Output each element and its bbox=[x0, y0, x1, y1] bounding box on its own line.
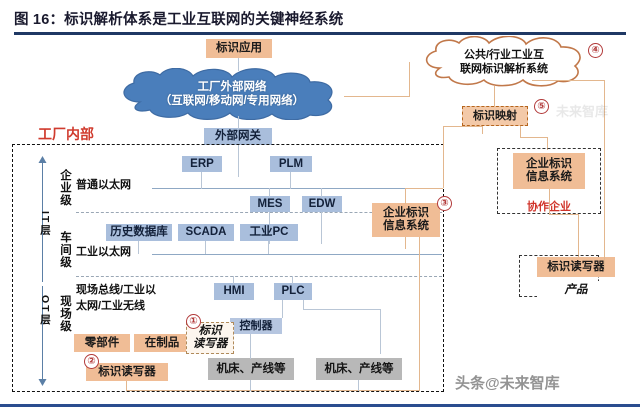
callout-2: ② bbox=[84, 354, 99, 369]
connector-industrial-pc-to-bus bbox=[268, 241, 269, 254]
node-industrial-pc[interactable]: 工业PC bbox=[240, 224, 298, 241]
figure-canvas: 图 16：标识解析体系是工业互联网的关键神经系统 工厂外部网络 （互联网/移动网… bbox=[0, 0, 640, 417]
enterprise-identifier-line2: 信息系统 bbox=[383, 220, 429, 233]
bus-label-fieldbus-line2: 太网/工业无线 bbox=[76, 300, 145, 313]
node-enterprise-identifier-info-system[interactable]: 企业标识 信息系统 bbox=[372, 203, 440, 237]
factory-interior-label: 工厂内部 bbox=[38, 124, 94, 144]
reader-writer-1-line1: 标识 bbox=[199, 325, 222, 338]
connector-bottom-bus bbox=[126, 390, 420, 391]
node-identifier-application[interactable]: 标识应用 bbox=[206, 39, 272, 58]
connector-erp-to-bus bbox=[201, 172, 202, 189]
connector-external-network-to-public-cloud-v bbox=[409, 62, 410, 97]
level-label-enterprise: 企业级 bbox=[56, 162, 71, 214]
connector-enterprise-system-down bbox=[405, 237, 406, 249]
node-hmi[interactable]: HMI bbox=[214, 283, 254, 300]
cloud-public-industry-identifier-system: 公共/行业工业互 联网标识解析系统 bbox=[418, 36, 590, 90]
connector-identifier-application-to-cloud bbox=[238, 58, 239, 71]
connector-plm-to-bus bbox=[290, 172, 291, 189]
connector-controller-to-machine-a bbox=[250, 334, 251, 359]
node-wip[interactable]: 在制品 bbox=[134, 334, 190, 352]
node-identifier-mapping[interactable]: 标识映射 bbox=[462, 106, 528, 126]
callout-4: ④ bbox=[588, 43, 603, 58]
figure-title-bar: 图 16：标识解析体系是工业互联网的关键神经系统 bbox=[14, 8, 626, 32]
level-label-field: 现场级 bbox=[56, 288, 71, 340]
collab-system-line2: 信息系统 bbox=[526, 171, 572, 184]
node-parts[interactable]: 零部件 bbox=[74, 334, 130, 352]
connector-it-bus-to-enterprise-system bbox=[405, 188, 443, 189]
bus-line-industrial-ethernet bbox=[152, 254, 442, 255]
level-divider-workshop-field bbox=[76, 276, 442, 277]
connector-identifier-mapping-left-h bbox=[443, 126, 483, 127]
ot-axis-arrow-icon bbox=[38, 378, 47, 386]
watermark-top: 未来智库 bbox=[556, 101, 608, 120]
node-collab-enterprise-identifier-system[interactable]: 企业标识 信息系统 bbox=[513, 153, 585, 189]
bus-label-fieldbus-line1: 现场总线/工业以 bbox=[76, 284, 156, 297]
node-mes[interactable]: MES bbox=[250, 196, 290, 212]
connector-machine-b-to-bottom-bus bbox=[358, 380, 359, 391]
connector-scada-to-bus bbox=[205, 241, 206, 254]
title-divider bbox=[14, 32, 626, 35]
cloud-public-identifier-label: 公共/行业工业互 联网标识解析系统 bbox=[418, 36, 590, 90]
level-label-workshop: 车间级 bbox=[56, 224, 71, 276]
connector-plc-branch-h bbox=[303, 309, 381, 310]
footer-divider bbox=[0, 404, 640, 407]
connector-identifier-mapping-left-rail bbox=[443, 126, 444, 188]
connector-mes-to-enterprise-bus bbox=[269, 188, 270, 197]
callout-1: ① bbox=[186, 314, 201, 329]
connector-plc-branch-to-machine-b bbox=[380, 309, 381, 354]
connector-collab-to-reader-3-h bbox=[549, 214, 579, 215]
connector-collab-to-reader-3-v1 bbox=[549, 189, 550, 215]
connector-hmi-to-workshop-bus bbox=[233, 276, 234, 284]
bus-line-ordinary-ethernet bbox=[152, 188, 442, 189]
collab-system-line1: 企业标识 bbox=[526, 158, 572, 171]
connector-edw-to-enterprise-bus bbox=[321, 188, 322, 197]
node-erp[interactable]: ERP bbox=[182, 156, 222, 172]
connector-cloud-to-external-gateway bbox=[238, 116, 239, 129]
connector-history-db-to-bus bbox=[138, 241, 139, 254]
node-reader-writer-2[interactable]: 标识读写器 bbox=[86, 363, 168, 381]
it-axis-arrow-icon bbox=[38, 156, 47, 164]
node-external-gateway[interactable]: 外部网关 bbox=[204, 128, 272, 145]
cloud-factory-external-network-label: 工厂外部网络 （互联网/移动网/专用网络） bbox=[112, 68, 352, 120]
callout-5: ⑤ bbox=[534, 99, 549, 114]
enterprise-identifier-line1: 企业标识 bbox=[383, 207, 429, 220]
callout-3: ③ bbox=[437, 196, 452, 211]
node-controller[interactable]: 控制器 bbox=[230, 318, 282, 334]
connector-collab-to-reader-3-v2 bbox=[578, 214, 579, 258]
watermark-bottom: 头条@未来智库 bbox=[455, 372, 560, 393]
connector-identifier-mapping-stub bbox=[482, 126, 483, 134]
node-machine-tools-a[interactable]: 机床、产线等 bbox=[208, 358, 294, 380]
node-product[interactable]: 产品 bbox=[537, 281, 615, 299]
node-edw[interactable]: EDW bbox=[302, 196, 342, 212]
node-plm[interactable]: PLM bbox=[270, 156, 312, 172]
node-scada[interactable]: SCADA bbox=[178, 224, 234, 241]
page-title: 图 16：标识解析体系是工业互联网的关键神经系统 bbox=[14, 8, 626, 29]
connector-plc-to-workshop-bus bbox=[292, 276, 293, 284]
connector-external-network-to-public-cloud-h bbox=[344, 96, 410, 97]
connector-edw-to-workshop-bus bbox=[321, 212, 322, 244]
it-layer-label: IT层 bbox=[36, 196, 50, 252]
connector-public-cloud-right-rail-top bbox=[532, 80, 605, 81]
connector-bottom-bus-to-enterprise-system bbox=[419, 212, 420, 391]
node-machine-tools-b[interactable]: 机床、产线等 bbox=[316, 358, 402, 380]
connector-plc-to-controller-v bbox=[282, 300, 283, 318]
ot-layer-label: OT层 bbox=[36, 288, 50, 334]
connector-public-cloud-to-identifier-mapping bbox=[494, 86, 495, 107]
bus-label-industrial-ethernet: 工业以太网 bbox=[76, 243, 131, 259]
connector-identifier-mapping-to-collab-h bbox=[520, 137, 548, 138]
reader-writer-1-line2: 读写器 bbox=[193, 338, 228, 351]
bus-label-ordinary-ethernet: 普通以太网 bbox=[76, 176, 131, 192]
node-history-database[interactable]: 历史数据库 bbox=[106, 224, 172, 241]
cloud-factory-external-network: 工厂外部网络 （互联网/移动网/专用网络） bbox=[112, 68, 352, 120]
connector-enterprise-system-up bbox=[405, 188, 406, 204]
node-plc[interactable]: PLC bbox=[274, 283, 312, 300]
connector-machine-a-to-bottom-bus bbox=[250, 380, 251, 391]
